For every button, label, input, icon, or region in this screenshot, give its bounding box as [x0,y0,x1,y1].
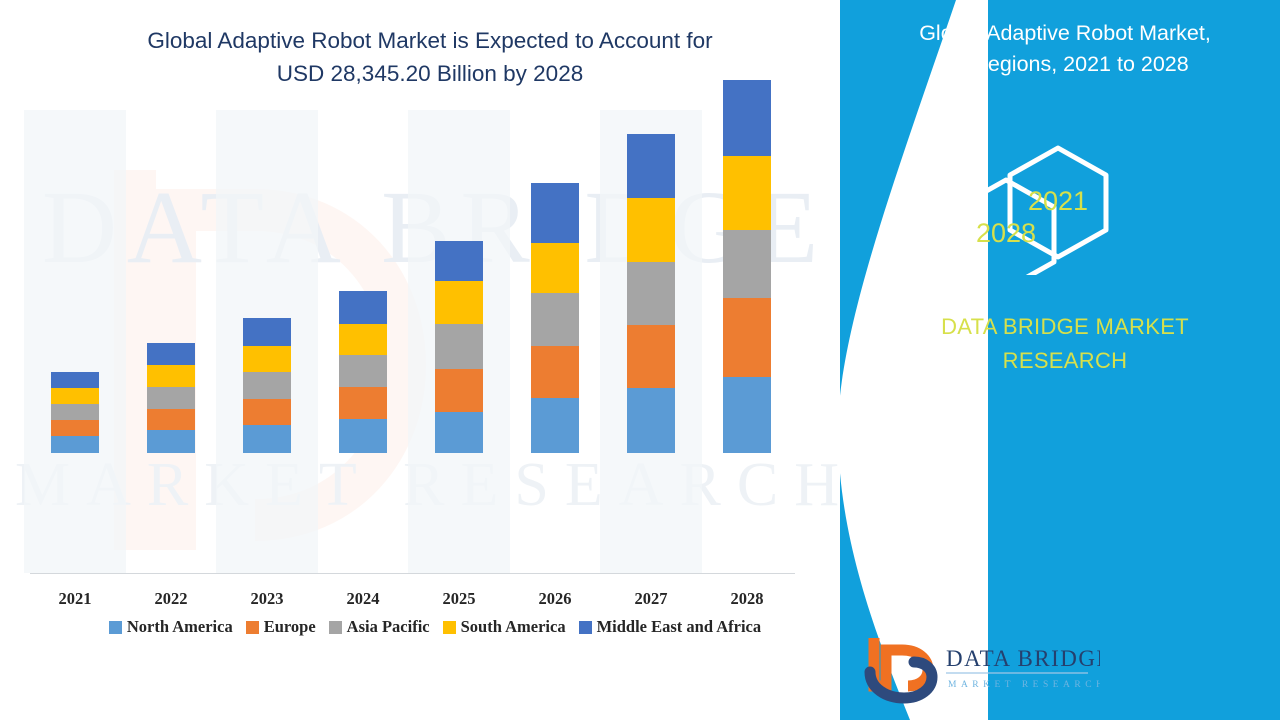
bar-column[interactable] [51,372,99,453]
legend-label: Europe [264,617,316,637]
legend-swatch [579,621,592,634]
bar-column[interactable] [627,134,675,453]
legend-item[interactable]: North America [109,617,233,637]
bar-column[interactable] [339,291,387,453]
x-axis-labels: 20212022202320242025202620272028 [0,589,870,615]
plot-band [24,110,126,573]
bar-segment[interactable] [243,372,291,399]
company-logo: DATA BRIDGE MARKET RESEARCH [860,632,1100,704]
bar-segment[interactable] [243,425,291,453]
bar-segment[interactable] [435,412,483,453]
bar-segment[interactable] [531,183,579,243]
x-axis-tick-label: 2026 [507,589,603,609]
bar-segment[interactable] [723,230,771,298]
bar-segment[interactable] [627,134,675,198]
bar-segment[interactable] [531,346,579,398]
bar-segment[interactable] [435,281,483,324]
x-axis-tick-label: 2027 [603,589,699,609]
legend-item[interactable]: South America [443,617,566,637]
bar-segment[interactable] [435,324,483,369]
bar-segment[interactable] [51,420,99,436]
logo-wordmark-bottom: MARKET RESEARCH [948,680,1100,690]
legend-label: South America [461,617,566,637]
bar-segment[interactable] [51,388,99,404]
legend-item[interactable]: Asia Pacific [329,617,430,637]
legend-label: Asia Pacific [347,617,430,637]
x-axis-tick-label: 2021 [27,589,123,609]
plot-area: 20212022202320242025202620272028 North A… [0,0,870,600]
bar-segment[interactable] [147,365,195,387]
bar-segment[interactable] [627,325,675,388]
x-axis-tick-label: 2025 [411,589,507,609]
legend-label: North America [127,617,233,637]
bar-segment[interactable] [339,355,387,387]
bar-segment[interactable] [627,262,675,325]
brand-name: DATA BRIDGE MARKET RESEARCH [860,310,1270,378]
bar-segment[interactable] [723,298,771,377]
bar-segment[interactable] [531,293,579,346]
x-axis-tick-label: 2023 [219,589,315,609]
chart-legend: North AmericaEuropeAsia PacificSouth Ame… [0,617,870,637]
bar-segment[interactable] [243,346,291,372]
legend-swatch [443,621,456,634]
bar-segment[interactable] [243,399,291,425]
bar-segment[interactable] [339,324,387,355]
x-axis-tick-label: 2028 [699,589,795,609]
bar-segment[interactable] [147,409,195,430]
bar-column[interactable] [243,318,291,453]
bar-column[interactable] [435,241,483,453]
brand-line2: RESEARCH [1003,348,1128,373]
bar-segment[interactable] [147,387,195,409]
hexagon-badge-2028-label: 2028 [976,218,1036,248]
bar-column[interactable] [531,183,579,453]
bar-segment[interactable] [147,343,195,365]
bar-segment[interactable] [435,241,483,281]
bar-segment[interactable] [147,430,195,453]
bar-segment[interactable] [339,387,387,419]
panel-title: Global Adaptive Robot Market, By Regions… [870,18,1260,80]
hexagon-badge-2021-label: 2021 [1028,186,1088,216]
bar-segment[interactable] [531,243,579,293]
bar-segment[interactable] [435,369,483,412]
logo-wordmark-top: DATA BRIDGE [946,646,1100,671]
bar-segment[interactable] [339,419,387,453]
legend-item[interactable]: Middle East and Africa [579,617,762,637]
legend-swatch [246,621,259,634]
bar-column[interactable] [723,80,771,453]
brand-panel: Global Adaptive Robot Market, By Regions… [840,0,1280,720]
hexagon-year-badges: 2021 2028 [958,140,1158,275]
bar-segment[interactable] [723,80,771,156]
bar-column[interactable] [147,343,195,453]
brand-line1: DATA BRIDGE MARKET [941,314,1189,339]
bar-segment[interactable] [531,398,579,453]
legend-swatch [109,621,122,634]
bar-segment[interactable] [627,388,675,453]
legend-swatch [329,621,342,634]
x-axis-tick-label: 2024 [315,589,411,609]
bar-segment[interactable] [339,291,387,324]
legend-item[interactable]: Europe [246,617,316,637]
bar-segment[interactable] [51,404,99,420]
bar-segment[interactable] [627,198,675,262]
bar-segment[interactable] [51,372,99,388]
bar-segment[interactable] [51,436,99,453]
x-axis-line [30,573,795,574]
legend-label: Middle East and Africa [597,617,762,637]
bar-segment[interactable] [243,318,291,346]
panel-title-line2: By Regions, 2021 to 2028 [941,52,1188,76]
infographic-canvas: DATA BRIDGE MARKET RESEARCH Global Adapt… [0,0,1280,720]
x-axis-tick-label: 2022 [123,589,219,609]
panel-title-line1: Global Adaptive Robot Market, [919,21,1211,45]
chart-panel: DATA BRIDGE MARKET RESEARCH Global Adapt… [0,0,980,720]
bar-segment[interactable] [723,377,771,453]
bar-segment[interactable] [723,156,771,230]
